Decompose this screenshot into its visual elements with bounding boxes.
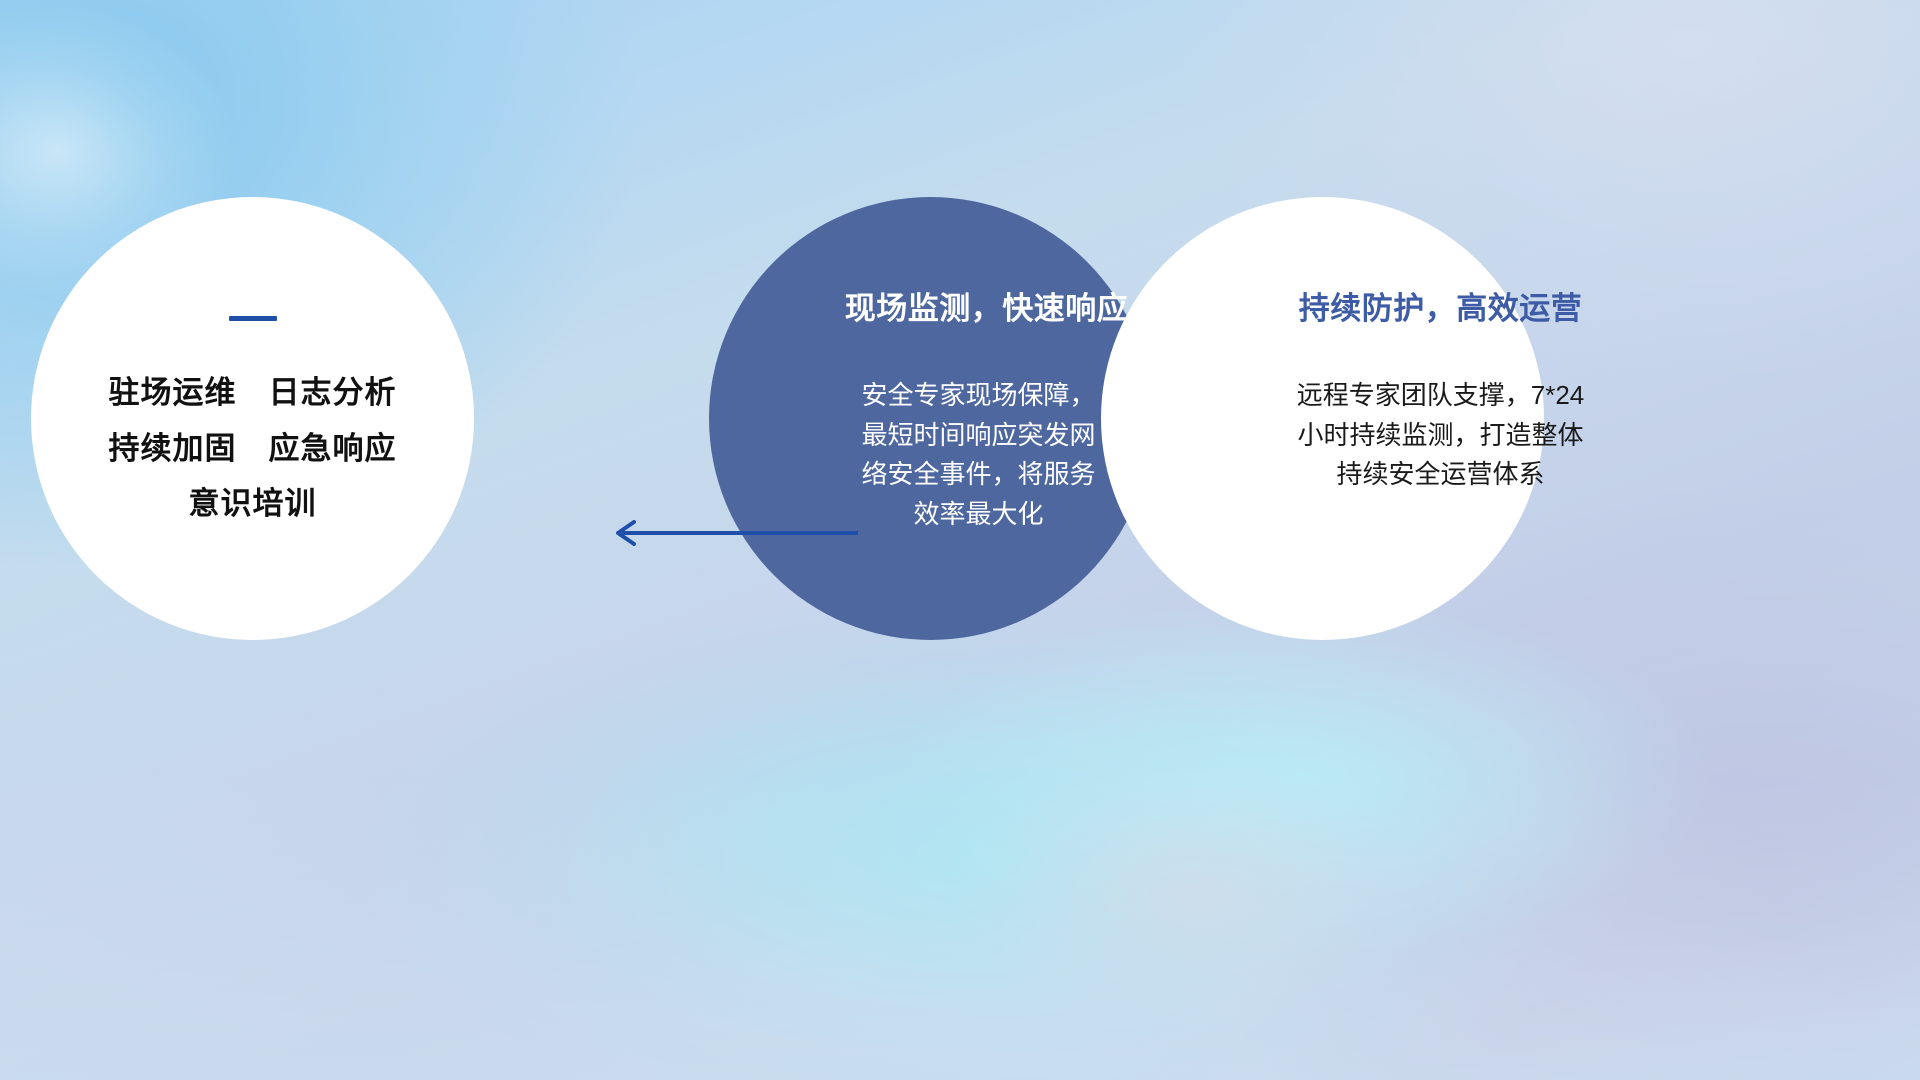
- blue-body-line: 最短时间响应突发网: [829, 416, 1129, 456]
- blue-body-line: 安全专家现场保障，: [829, 376, 1129, 416]
- left-keyword-line: 持续加固 应急响应: [109, 433, 397, 466]
- left-keyword-line: 意识培训: [189, 488, 317, 521]
- left-keyword-line: 驻场运维 日志分析: [109, 377, 397, 410]
- right-body-line: 持续安全运营体系: [1235, 455, 1647, 495]
- divider-dash-icon: [229, 316, 277, 321]
- blue-body-line: 效率最大化: [829, 495, 1129, 535]
- left-circle-keyword-list: 驻场运维 日志分析 持续加固 应急响应 意识培训: [109, 377, 397, 521]
- right-circle-card[interactable]: 持续防护，高效运营 远程专家团队支撑，7*24 小时持续监测，打造整体 持续安全…: [1101, 197, 1544, 640]
- blue-circle-card[interactable]: 现场监测，快速响应 安全专家现场保障， 最短时间响应突发网 络安全事件，将服务 …: [709, 197, 1152, 640]
- right-body-line: 远程专家团队支撑，7*24: [1235, 376, 1647, 416]
- blue-circle-body: 安全专家现场保障， 最短时间响应突发网 络安全事件，将服务 效率最大化: [829, 376, 1129, 534]
- left-arrow-icon: [600, 518, 860, 548]
- blue-body-line: 络安全事件，将服务: [829, 455, 1129, 495]
- right-circle-body: 远程专家团队支撑，7*24 小时持续监测，打造整体 持续安全运营体系: [1235, 376, 1647, 495]
- right-circle-title: 持续防护，高效运营: [1299, 283, 1583, 328]
- right-body-line: 小时持续监测，打造整体: [1235, 416, 1647, 456]
- slide-canvas: 现场监测，快速响应 安全专家现场保障， 最短时间响应突发网 络安全事件，将服务 …: [0, 0, 1920, 1080]
- left-circle-card[interactable]: 驻场运维 日志分析 持续加固 应急响应 意识培训: [31, 197, 474, 640]
- blue-circle-title: 现场监测，快速响应: [845, 283, 1129, 328]
